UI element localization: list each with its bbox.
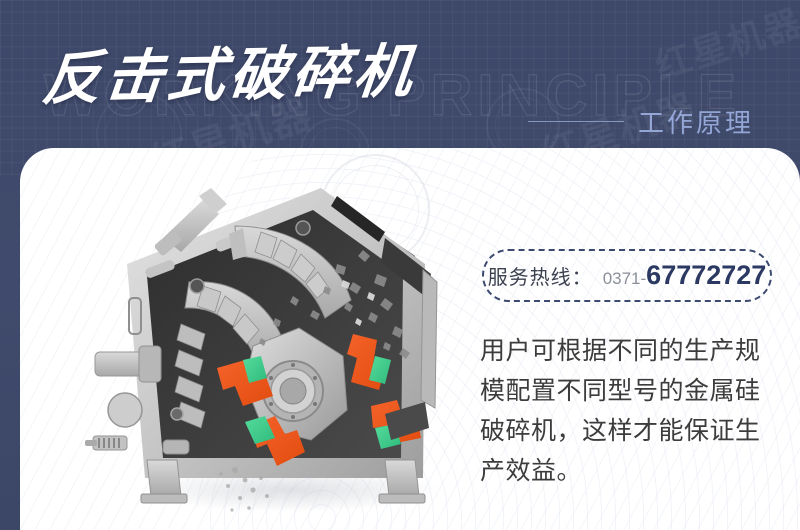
body-paragraph: 用户可根据不同的生产规模配置不同型号的金属硅破碎机，这样才能保证生产效益。: [480, 331, 780, 491]
crusher-diagram-image: [85, 178, 485, 523]
poster-root: 红星机器 红星机器 红星机器 WORKING PRINCIPLE 反击式破碎机 …: [0, 0, 800, 530]
hotline-area-code: 0371-: [603, 269, 646, 289]
hotline-label: 服务热线：: [488, 261, 593, 290]
subtitle-label: 工作原理: [638, 103, 754, 140]
hotline-number: 67772727: [646, 260, 766, 291]
page-title: 反击式破碎机: [39, 24, 420, 116]
content-card: 服务热线： 0371- 67772727 用户可根据不同的生产规模配置不同型号的…: [20, 148, 800, 530]
hotline-number-group: 0371- 67772727: [603, 260, 767, 291]
subtitle-rule: [528, 121, 624, 122]
hotline-badge[interactable]: 服务热线： 0371- 67772727: [482, 249, 772, 302]
subtitle-group: 工作原理: [528, 103, 754, 140]
